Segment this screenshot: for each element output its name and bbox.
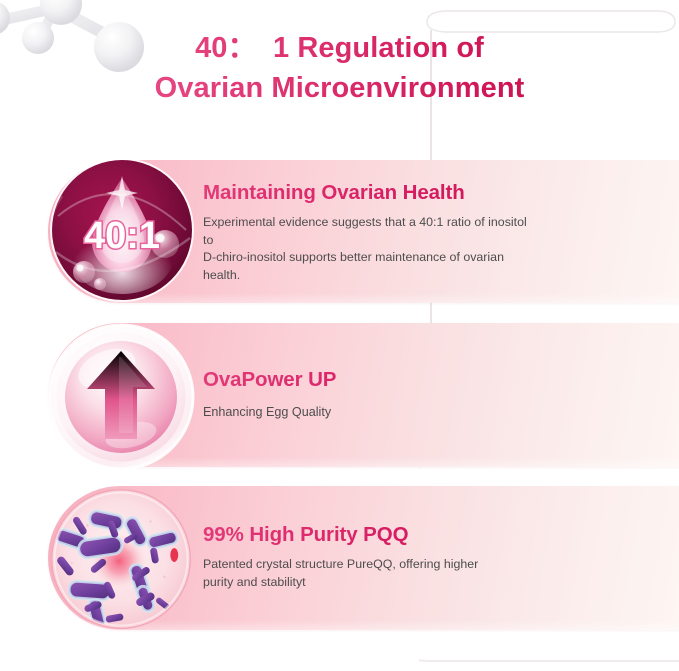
card-body: Experimental evidence suggests that a 40… xyxy=(203,214,533,284)
page-title-line-2: Ovarian Microenvironment xyxy=(0,68,679,108)
card-body: Enhancing Egg Quality xyxy=(203,404,533,422)
card-text: Maintaining Ovarian Health Experimental … xyxy=(203,160,605,305)
card-heading: Maintaining Ovarian Health xyxy=(203,182,605,205)
page-title-line-1: 40： 1 Regulation of xyxy=(0,28,679,68)
page-title: 40： 1 Regulation of Ovarian Microenviron… xyxy=(0,28,679,108)
card-text: OvaPower UP Enhancing Egg Quality xyxy=(203,323,605,467)
up-arrow-bubble-icon xyxy=(47,323,195,471)
infographic-page: 40： 1 Regulation of Ovarian Microenviron… xyxy=(0,0,679,671)
card-heading: 99% High Purity PQQ xyxy=(203,524,605,547)
droplet-ratio-badge-icon: 40:1 xyxy=(48,156,196,304)
card-body: Patented crystal structure PureQQ, offer… xyxy=(203,556,533,591)
card-text: 99% High Purity PQQ Patented crystal str… xyxy=(203,486,605,630)
crystal-cell-icon xyxy=(48,486,194,632)
feature-card: OvaPower UP Enhancing Egg Quality xyxy=(48,323,679,467)
feature-card: 99% High Purity PQQ Patented crystal str… xyxy=(48,486,679,630)
card-heading: OvaPower UP xyxy=(203,369,605,392)
feature-card: 40:1 Maintaining Ovarian Health Experime… xyxy=(48,160,679,303)
ratio-label: 40:1 xyxy=(84,215,160,257)
